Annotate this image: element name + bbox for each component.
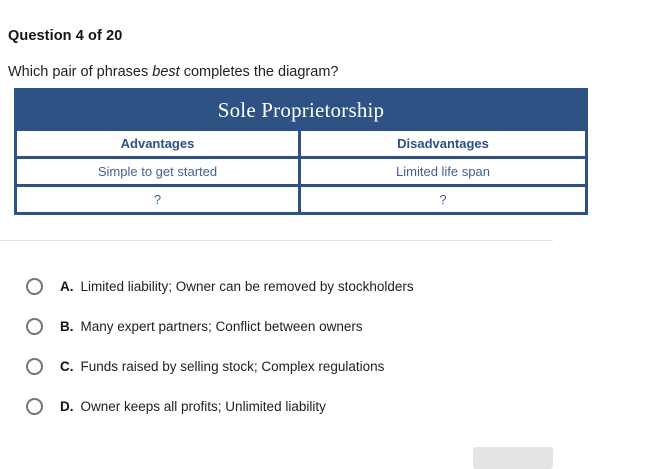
prompt-text-before: Which pair of phrases	[8, 64, 152, 80]
diagram-cell-advantage-1: Simple to get started	[17, 159, 301, 184]
prompt-text-after: completes the diagram?	[180, 64, 339, 80]
diagram-row: ? ?	[17, 184, 585, 212]
answer-option-letter: A.	[60, 279, 74, 294]
answer-option-text: Limited liability; Owner can be removed …	[81, 279, 414, 294]
diagram-cell-advantage-2-placeholder: ?	[17, 187, 301, 212]
answer-option-b[interactable]: B. Many expert partners; Conflict betwee…	[26, 306, 626, 346]
answer-option-text: Many expert partners; Conflict between o…	[81, 319, 363, 334]
question-prompt: Which pair of phrases best completes the…	[8, 64, 338, 80]
diagram-column-header-advantages: Advantages	[17, 131, 301, 156]
submit-button[interactable]	[473, 447, 553, 469]
section-divider	[0, 240, 553, 241]
answer-option-c[interactable]: C. Funds raised by selling stock; Comple…	[26, 346, 626, 386]
answer-option-a[interactable]: A. Limited liability; Owner can be remov…	[26, 266, 626, 306]
radio-button-icon[interactable]	[26, 278, 43, 295]
diagram-cell-disadvantage-2-placeholder: ?	[301, 187, 585, 212]
radio-button-icon[interactable]	[26, 318, 43, 335]
radio-button-icon[interactable]	[26, 358, 43, 375]
answer-options-list: A. Limited liability; Owner can be remov…	[26, 266, 626, 426]
answer-option-letter: D.	[60, 399, 74, 414]
diagram-cell-disadvantage-1: Limited life span	[301, 159, 585, 184]
question-heading: Question 4 of 20	[8, 28, 122, 44]
diagram-table: Sole Proprietorship Advantages Disadvant…	[14, 88, 588, 215]
diagram-row: Simple to get started Limited life span	[17, 156, 585, 184]
prompt-emphasis: best	[152, 64, 179, 80]
answer-option-d[interactable]: D. Owner keeps all profits; Unlimited li…	[26, 386, 626, 426]
diagram-title: Sole Proprietorship	[17, 91, 585, 129]
radio-button-icon[interactable]	[26, 398, 43, 415]
answer-option-letter: C.	[60, 359, 74, 374]
answer-option-text: Owner keeps all profits; Unlimited liabi…	[81, 399, 326, 414]
answer-option-text: Funds raised by selling stock; Complex r…	[81, 359, 385, 374]
answer-option-letter: B.	[60, 319, 74, 334]
diagram-column-header-disadvantages: Disadvantages	[301, 131, 585, 156]
diagram-header-row: Advantages Disadvantages	[17, 129, 585, 156]
